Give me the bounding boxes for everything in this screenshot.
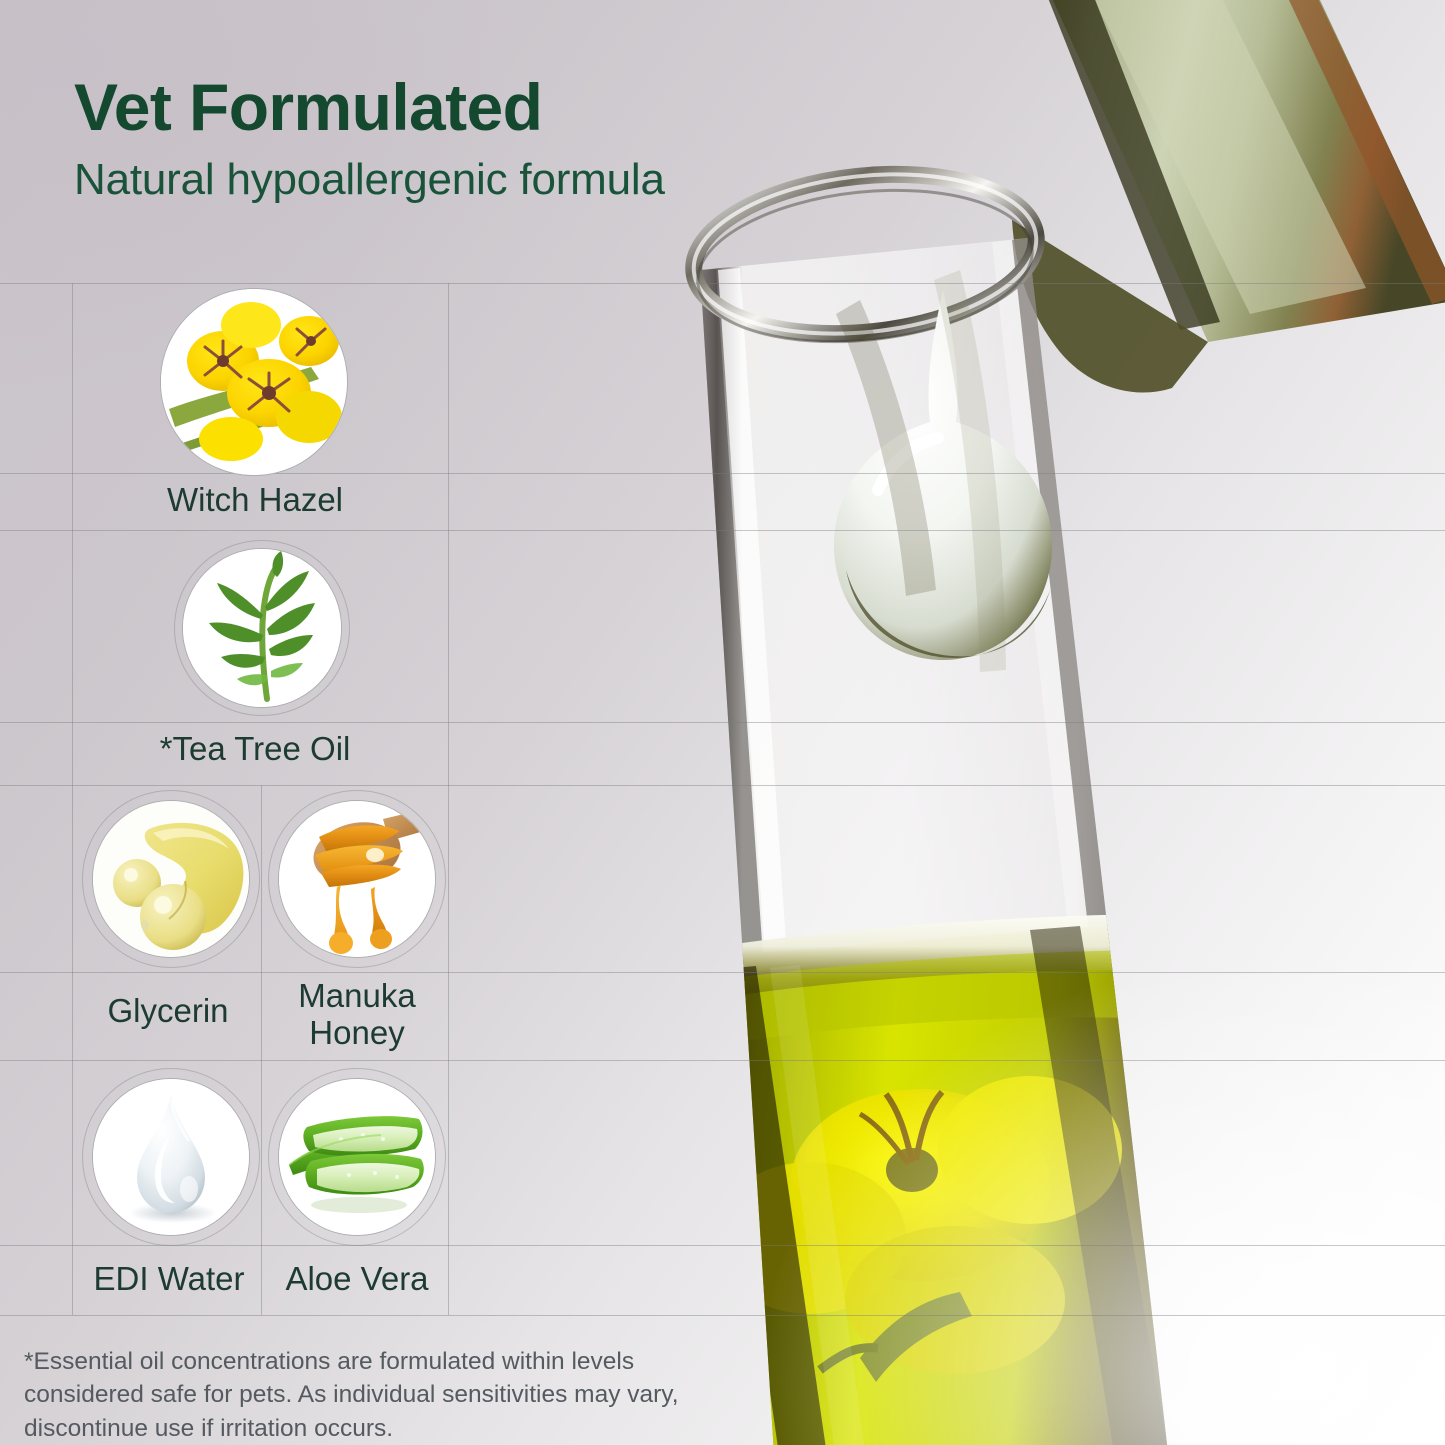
footnote-disclaimer: *Essential oil concentrations are formul… <box>24 1345 724 1445</box>
ingredient-label: Aloe Vera <box>262 1261 452 1298</box>
ingredient-label: Manuka Honey <box>262 978 452 1052</box>
witch-hazel-flower-icon <box>160 288 348 476</box>
header-block: Vet Formulated Natural hypoallergenic fo… <box>74 74 974 202</box>
page-subtitle: Natural hypoallergenic formula <box>74 158 974 202</box>
yellow-mullein-flower <box>714 1076 1122 1382</box>
ingredient-label: Glycerin <box>78 993 258 1030</box>
water-droplet-icon <box>92 1078 250 1236</box>
ingredient-label: EDI Water <box>76 1261 262 1298</box>
test-tube-body <box>700 238 1170 1445</box>
aloe-vera-leaf-icon <box>278 1078 436 1236</box>
honey-dipper-icon <box>278 800 436 958</box>
glycerin-oil-drops-icon <box>92 800 250 958</box>
page-title: Vet Formulated <box>74 74 974 140</box>
hanging-oil-droplet <box>834 290 1052 660</box>
product-infographic: Vet Formulated Natural hypoallergenic fo… <box>0 0 1445 1445</box>
angled-glass-pipette <box>1012 0 1445 393</box>
ingredient-label: Witch Hazel <box>60 482 450 519</box>
glass-test-tube-with-dropper <box>560 0 1445 1445</box>
ingredient-label: *Tea Tree Oil <box>60 731 450 768</box>
olive-green-oil <box>670 914 1220 1445</box>
tea-tree-sprig-icon <box>182 548 342 708</box>
